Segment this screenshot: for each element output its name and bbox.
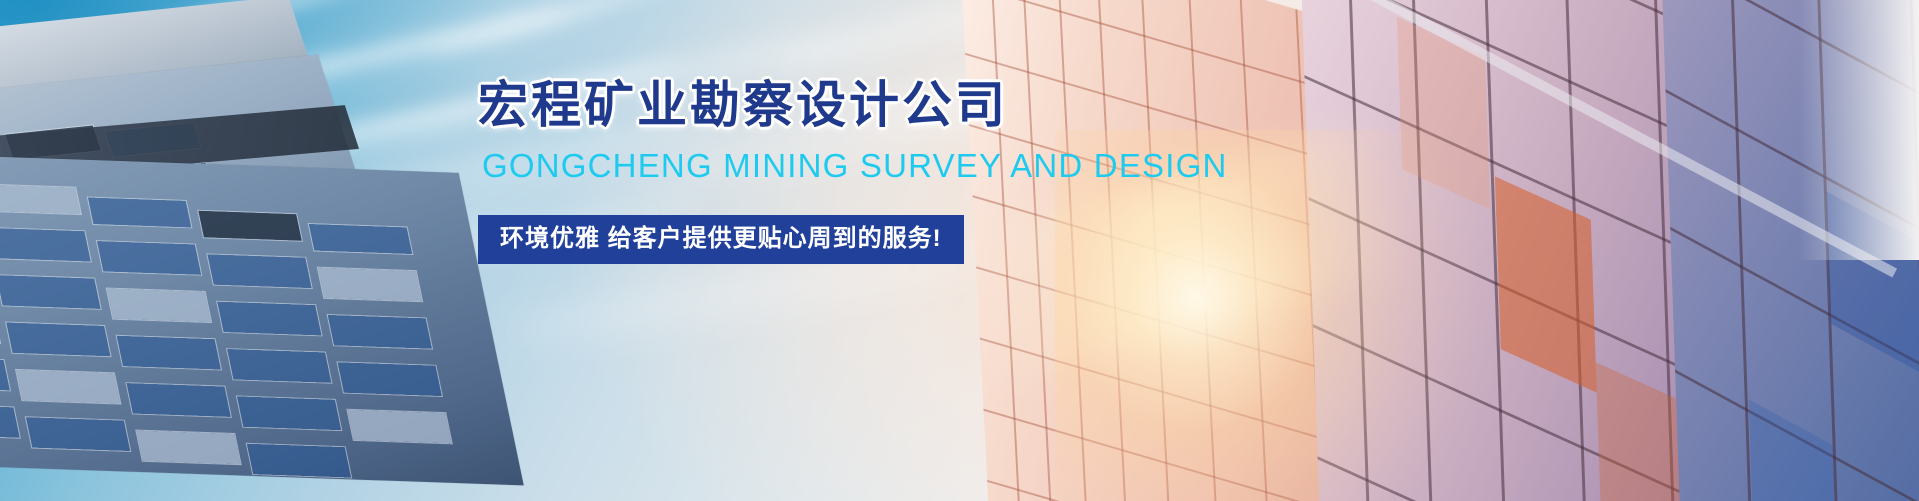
hero-text-block: 宏程矿业勘察设计公司 GONGCHENG MINING SURVEY AND D… — [478, 78, 1178, 264]
page-title: 宏程矿业勘察设计公司 — [478, 78, 1178, 133]
right-building-face-right — [1652, 0, 1919, 501]
page-subtitle: GONGCHENG MINING SURVEY AND DESIGN — [482, 147, 1178, 185]
tagline-badge: 环境优雅 给客户提供更贴心周到的服务! — [478, 215, 964, 264]
left-building-face-lower — [0, 151, 524, 485]
hero-banner: 宏程矿业勘察设计公司 GONGCHENG MINING SURVEY AND D… — [0, 0, 1919, 501]
